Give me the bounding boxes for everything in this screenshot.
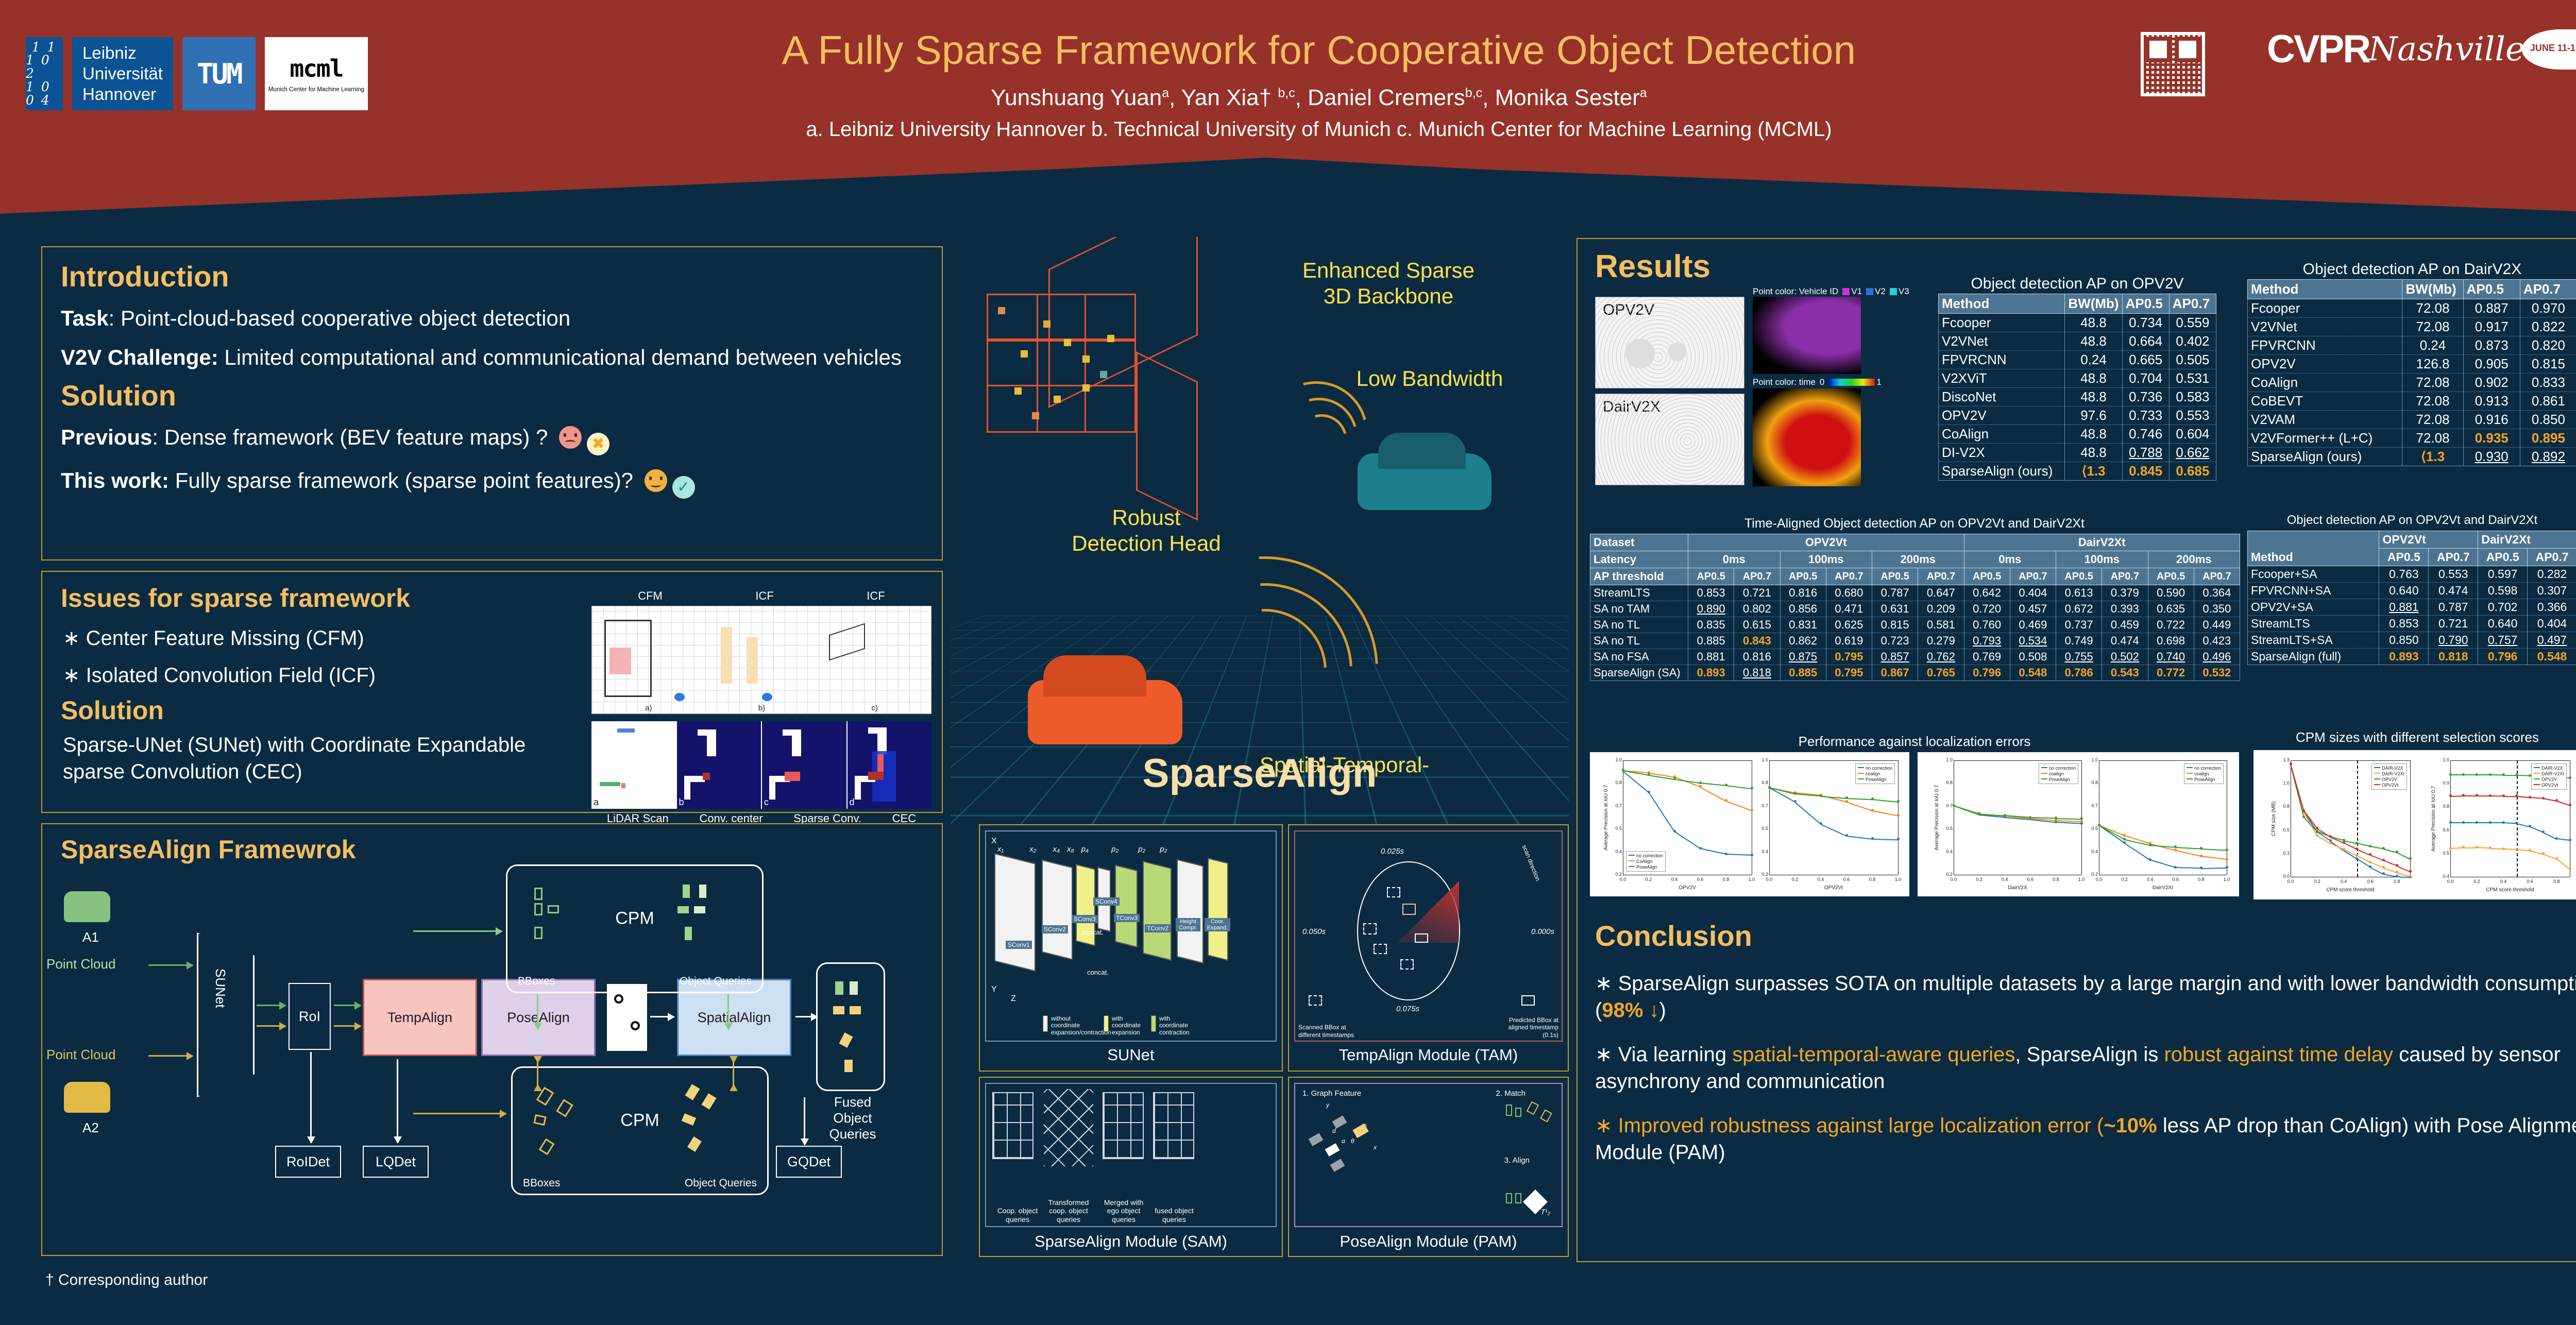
arrow-roi-to-cpm-top [413,930,502,932]
legend-label: PoseAlign [1636,864,1657,870]
cell-value: 0.793 [1964,633,2010,649]
x-tick-label: 0.2 [2312,879,2323,884]
pam-symbol-d: d [1332,1127,1336,1134]
axis-left [1769,760,1770,875]
th-apthr-1: AP0.7 [1734,568,1780,585]
x-tick-label: 0.6 [2525,879,2535,884]
cell-value: 0.457 [2010,601,2056,617]
chart-legend: DAIR-V2XDAIR-V2XtOPV2VOPV2Vt [2531,763,2567,790]
legend-label: no correction [1866,766,1892,771]
y-tick-label: 0.8 [2437,804,2449,809]
x-tick-label: 0.4 [2145,877,2155,882]
cell-value: 0.740 [2148,649,2194,665]
sunet-axis-y: Y [991,985,997,994]
chart-loc-errors-right: 0.20.40.50.70.81.00.00.20.40.60.81.0Dair… [1918,752,2239,896]
x-tick-label: 0.6 [2025,877,2036,882]
sunet-stage-x2: x₂ [1029,845,1036,854]
axis-top [1769,760,1898,761]
cell-value: 0.818 [2429,649,2478,665]
chart-loc-errors-title: Performance against localization errors [1590,734,2239,750]
cell-method: V2VNet [1939,332,2065,351]
axis-left [1954,760,1954,875]
fig-caption-icf-2: ICF [867,589,885,603]
cell-bw: 72.08 [2402,429,2463,448]
x-tick-label: 1.0 [2076,877,2087,882]
y-tick-label: 0.6 [2437,827,2449,833]
th-apthr-9: AP0.7 [2102,568,2148,585]
data-line [2490,848,2503,850]
table-opv2v-header-row: Method BW(Mb) AP0.5 AP0.7 [1939,294,2216,314]
block-lqdet[interactable]: LQDet [363,1146,429,1178]
sunet-stage-p2a: p₂ [1111,845,1118,854]
fig-sublabel-bottom-d: d [850,797,855,808]
data-line [1872,839,1898,840]
cell-value: 0.597 [2478,566,2528,583]
table-opv2v-col-ap07: AP0.7 [2169,294,2216,314]
thiswork-label: This work: [61,468,169,492]
cell-ap5: 0.917 [2463,318,2520,336]
th-group-dairv2xt: DairV2Xt [2478,531,2576,549]
legend-swatch [2534,773,2540,774]
cell-ap7: 0.402 [2169,332,2216,351]
data-point [1897,800,1900,803]
cell-method: StreamLTS [1590,585,1688,601]
conclusion-point-3: ∗ Improved robustness against large loca… [1595,1112,2576,1166]
conclusion-text-fragment: robust against time delay [2164,1043,2393,1066]
cell-value: 0.795 [1826,649,1872,665]
sunet-op-sconv1: SConv1 [1006,941,1032,949]
data-line [2370,867,2384,875]
cell-value: 0.862 [1780,633,1826,649]
cell-method: SparseAlign (full) [2248,649,2379,665]
arrow-a1-to-sunet [148,964,193,966]
y-tick-label: 0.3 [2277,851,2290,856]
table-opv2vt-header-groups: Method OPV2Vt DairV2Xt [2248,531,2576,549]
cell-bw: 48.8 [2065,425,2122,444]
pam-module-panel: 1. Graph Feature 2. Match 3. Align y x d… [1288,1077,1569,1257]
conclusion-text-fragment: ∗ Improved robustness against large loca… [1595,1114,2104,1137]
pam-step-1: 1. Graph Feature [1302,1089,1361,1098]
sam-grid-fused [1153,1092,1194,1159]
legend-swatch [2187,767,2193,768]
sunet-stage-x4: x₄ [1053,845,1060,854]
tam-legend-scanned: Scanned BBox at different timestamps [1298,1024,1360,1039]
cell-ap7: 0.553 [2169,406,2216,425]
fig-cell-sparse-conv: c [762,721,848,809]
data-line [2490,774,2503,775]
x-tick-label: 0.0 [2445,879,2455,884]
th-apthr-11: AP0.7 [2194,568,2240,585]
cell-bw: ⟨1.3 [2402,448,2463,466]
legend-swatch [1858,778,1864,779]
cell-ap7: 0.820 [2520,336,2576,355]
sunet-backbone-shape [197,932,255,1097]
cell-value: 0.890 [1688,601,1734,617]
th-apthr-5: AP0.7 [1918,568,1964,585]
table-row: FPVRCNN+SA0.6400.4740.5980.307 [2248,583,2576,599]
pam-symbol-theta: θ [1351,1137,1354,1145]
block-tempalign[interactable]: TempAlign [363,979,477,1056]
axis-top [2450,760,2570,761]
pose-transform-icon [607,984,647,1051]
cell-method: SparseAlign (SA) [1590,665,1688,681]
cell-value: 0.737 [2056,617,2102,633]
task-text: : Point-cloud-based cooperative object d… [109,306,571,330]
chart-cpm-box: 0.00.30.50.81.01.30.00.20.40.60.8CPM sco… [2253,750,2576,899]
cell-value: 0.749 [2056,633,2102,649]
introduction-solution-title: Solution [61,379,942,412]
axis-left [1623,760,1623,875]
cell-value: 0.893 [1688,665,1734,681]
x-tick-label: 0.8 [2050,877,2061,882]
data-point [2569,804,2571,806]
x-tick-label: 0.8 [2551,879,2562,884]
cell-method: Fcooper [1939,314,2065,332]
cell-bw: 48.8 [2065,314,2122,332]
vis-legend-time-text: Point color: time [1753,377,1816,387]
cell-value: 0.615 [1734,617,1780,633]
block-roi[interactable]: RoI [289,983,331,1050]
table-row: DiscoNet48.80.7360.583 [1939,388,2216,406]
cell-value: 0.763 [2379,566,2429,583]
data-line [2477,822,2490,823]
data-line [2290,765,2304,811]
previous-text: : Dense framework (BEV feature maps) ? [152,425,548,449]
block-gqdet[interactable]: GQDet [776,1146,842,1178]
sunet-legend-1: without coordinate expansion/contraction [1051,1015,1100,1037]
cell-value: 0.581 [1918,617,1964,633]
cell-value: 0.755 [2056,649,2102,665]
x-axis-label: DairV2Xt [2099,885,2227,891]
cell-value: 0.721 [2429,616,2478,632]
data-line [1726,785,1752,789]
data-line [2056,818,2081,820]
data-line [2383,868,2397,873]
data-line [2370,855,2384,861]
th-lat-0ms-a: 0ms [1688,551,1781,568]
cell-value: 0.885 [1688,633,1734,649]
table-row: V2XViT48.80.7040.531 [1939,369,2216,388]
pam-symbol-transform: T¹₂ [1540,1208,1550,1216]
pam-axis-x: x [1374,1144,1377,1151]
cell-value: 0.722 [2148,617,2194,633]
chart-legend: no correctioncoalignPoseAlign [2184,763,2224,784]
data-line [2383,848,2397,853]
x-axis-label: OPV2Vt [1769,885,1898,891]
data-point [1897,838,1900,840]
x-tick-label: 0.6 [1695,877,1705,882]
table-row: Fcooper72.080.8870.970 [2248,299,2576,318]
threshold-line [2517,760,2518,877]
data-line [2357,843,2370,847]
cell-bw: 126.8 [2402,355,2463,373]
tam-module-panel: 0.025s 0.050s 0.000s 0.075s scan directi… [1288,824,1569,1072]
table-dairv2x-header-row: Method BW(Mb) AP0.5 AP0.7 [2248,280,2576,299]
th-lat-100ms-b: 100ms [2056,551,2148,568]
legend-label: CoAlign [1636,859,1653,864]
cell-value: 0.875 [1780,649,1826,665]
cell-method: StreamLTS+SA [2248,632,2379,649]
vis-legend-time-min: 0 [1820,377,1824,387]
vis-pointcloud-time [1753,388,1861,486]
cell-bw: 72.08 [2402,373,2463,392]
label-robust-detection-head: Robust Detection Head [1043,505,1249,557]
sunet-op-coord-expand: Coor. Expand. [1205,918,1230,931]
tam-legend-predicted: Predicted BBox at aligned timestamp (0.1… [1492,1016,1558,1039]
data-point [2080,820,2083,823]
data-line [2450,822,2464,823]
legend-swatch [1629,866,1635,867]
table-opv2v-col-method: Method [1939,294,2065,314]
cell-ap5: 0.664 [2122,332,2169,351]
y-tick-label: 0.0 [2277,874,2290,879]
x-tick-label: 1.0 [2222,877,2232,882]
legend-label: DAIR-V2Xt [2541,771,2564,776]
agent-a2-car-icon [64,1082,110,1113]
cell-method: V2VAM [2248,411,2402,429]
vis-legend-vehicle-id: Point color: Vehicle IDV1V2V3 [1753,286,1909,297]
fig-cell-cec: d [848,721,932,809]
vis-legend-v2: V2 [1875,286,1886,296]
y-tick-label: 0.4 [1609,849,1622,854]
legend-label: DAIR-V2X [2382,766,2403,771]
framework-panel: SparseAlign Framewrok A1 Point Cloud A2 … [41,823,943,1256]
pam-symbol-alpha: α [1342,1137,1345,1145]
chart-loc-errors-left: 0.20.40.50.70.81.00.00.20.40.60.81.0OPV2… [1590,752,1909,896]
data-line [2490,822,2503,823]
data-line [2124,843,2150,860]
cell-bw: 72.08 [2402,299,2463,318]
sunet-block-5 [1115,865,1138,948]
sunet-stage-x8: x₈ [1067,845,1074,854]
legend-label: OPV2V [2541,777,2557,782]
cell-ap5: 0.736 [2122,388,2169,406]
data-point [2409,870,2412,873]
legend-label: PoseAlign [2049,777,2070,782]
table-dairv2x-col-ap07: AP0.7 [2520,280,2576,299]
sam-module-panel: Coop. object queries Transformed coop. o… [979,1077,1283,1257]
data-line [2477,847,2490,849]
guitar-icon: JUNE 11-15, 2025 [2522,29,2576,70]
sunet-op-sconv2: SConv2 [1042,925,1068,933]
y-tick-label: 0.8 [1609,780,1622,785]
introduction-panel: Introduction Task: Point-cloud-based coo… [41,246,943,560]
y-tick-label: 0.8 [2277,804,2290,809]
cell-value: 0.850 [2379,632,2429,649]
y-tick-label: 1.0 [1940,757,1953,762]
data-line [2503,775,2517,776]
y-tick-label: 0.7 [2086,803,2098,808]
legend-label: OPV2V [2382,777,2397,782]
data-line [1872,799,1898,803]
agent-a2-label: A2 [82,1120,99,1136]
th-dataset: Dataset [1590,534,1688,551]
data-line [2450,795,2464,797]
data-line [2201,848,2227,851]
cell-value: 0.474 [2429,583,2478,599]
tam-module-figure: 0.025s 0.050s 0.000s 0.075s scan directi… [1294,830,1563,1042]
axis-top [2291,760,2410,761]
table-row: StreamLTS0.8530.7210.8160.6800.7870.6470… [1590,585,2240,601]
arrow-to-fused-queries [795,1016,817,1017]
table-opv2v-col-ap05: AP0.5 [2122,294,2169,314]
cell-method: DI-V2X [1939,444,2065,462]
sunet-block-1 [994,853,1036,972]
table-opv2vt-dairv2xt-title: Object detection AP on OPV2Vt and DairV2… [2247,513,2576,528]
fig-sublabel-a: a) [645,704,652,712]
chart-legend: DAIR-V2XDAIR-V2XtOPV2VOPV2Vt [2371,763,2407,790]
data-line [2556,801,2570,806]
tam-bbox-2 [1363,923,1377,935]
sunet-stage-p4: p₄ [1081,845,1089,854]
cell-method: SparseAlign (ours) [2248,448,2402,466]
axis-bottom [1623,875,1752,875]
cell-ap5: 0.887 [2463,299,2520,318]
data-line [2099,825,2125,840]
conclusion-text-fragment: ∗ SparseAlign surpasses SOTA on multiple… [1595,972,2576,1022]
tam-bbox-pred-2 [1415,933,1428,943]
cell-method: Fcooper+SA [2248,566,2379,583]
table-dairv2x: Method BW(Mb) AP0.5 AP0.7 Fcooper72.080.… [2247,279,2576,466]
vis-pointcloud-vehicleid [1753,297,1861,374]
cell-bw: 0.24 [2065,351,2122,369]
data-line [2556,838,2570,841]
data-line [2464,795,2477,796]
tam-bbox-pred-1 [1402,904,1416,915]
axis-bottom [2291,877,2410,877]
y-tick-label: 0.5 [2437,851,2449,856]
x-tick-label: 0.6 [2365,879,2376,884]
x-axis-label: DairV2X [1954,885,2081,891]
cpm-label-bottom: CPM [620,1111,659,1131]
issues-fig-bottom-image: a b c d [591,721,931,809]
task-label: Task [61,306,109,330]
cell-bw: 72.08 [2402,392,2463,411]
cell-ap5: 0.733 [2122,406,2169,425]
data-line [2397,865,2411,872]
th-apthr-7: AP0.7 [2010,568,2056,585]
data-point [2409,857,2412,860]
cell-value: 0.548 [2010,665,2056,681]
center-hero-graphic: Enhanced Sparse 3D Backbone Low Bandwidt… [951,237,1569,824]
th-apthr-4: AP0.5 [1872,568,1918,585]
data-point [2226,848,2228,851]
x-tick-label: 0.2 [1790,877,1800,882]
tam-module-caption: TempAlign Module (TAM) [1289,1046,1568,1064]
axis-right [1898,760,1899,875]
conclusion-point-1: ∗ SparseAlign surpasses SOTA on multiple… [1595,970,2576,1024]
qr-code-icon[interactable] [2141,32,2205,96]
sunet-op-tconv3: TConv3 [1114,914,1140,922]
cell-method: FPVRCNN [2248,336,2402,355]
arrow-roi-to-tempalign-a2 [334,1025,361,1027]
sad-face-icon [559,426,582,449]
th-method-2: Method [2248,531,2379,566]
introduction-title: Introduction [61,260,942,293]
data-line [1846,802,1873,811]
y-tick-label: 0.9 [2437,780,2449,786]
th-apthr-10: AP0.5 [2148,568,2194,585]
sunet-block-2 [1042,860,1073,960]
sunet-stage-x1: x₁ [997,845,1004,854]
footer-note: † Corresponding author [45,1271,208,1289]
data-line [2370,846,2383,850]
introduction-challenge: V2V Challenge: Limited computational and… [61,344,926,371]
tam-bbox-4 [1400,959,1414,970]
cell-value: 0.816 [1734,649,1780,665]
tam-bbox-3 [1374,944,1387,954]
chart-legend: no correctioncoalignPoseAlign [2039,763,2078,784]
arrow-to-spatialalign [650,1016,674,1017]
arrow-sunet-to-roi-a1 [257,1005,285,1006]
cell-value: 0.449 [2194,617,2240,633]
data-line [2503,848,2517,850]
cell-value: 0.816 [1780,585,1826,601]
affiliation-list: a. Leibniz University Hannover b. Techni… [0,118,2576,141]
cell-value: 0.672 [2056,601,2102,617]
introduction-task: Task: Point-cloud-based cooperative obje… [61,304,926,332]
table-opv2vt-dairv2xt: Method OPV2Vt DairV2Xt AP0.5AP0.7AP0.5AP… [2247,531,2576,665]
cell-value: 0.497 [2528,632,2576,649]
issues-fig-top-sublabels: a) b) c) [592,704,931,712]
table-row: OPV2V97.60.7330.553 [1939,406,2216,425]
sunet-module-figure: X Y Z x₁ x₂ x₄ x₈ p₄ p₂ p₂ p₂ SConv1 SCo… [985,830,1277,1042]
table-timealigned-header-latency: Latency 0ms 100ms 200ms 0ms 100ms 200ms [1590,551,2240,568]
data-point [2569,839,2571,841]
legend-swatch [1858,773,1864,774]
y-tick-label: 1.0 [2086,757,2098,762]
x-tick-label: 0.4 [1999,877,2010,882]
cell-value: 0.856 [1780,601,1826,617]
legend-swatch [1629,860,1635,861]
arrow-roi-to-roidet [310,1052,312,1143]
th-dairv2xt: DairV2Xt [1964,534,2240,551]
cell-value: 0.640 [2379,583,2429,599]
sam-grid-transformed [1044,1089,1093,1166]
legend-swatch [2374,773,2380,774]
sunet-op-height-compression: Height Compr. [1176,918,1200,931]
data-line [1700,783,1726,786]
data-line [2464,774,2477,775]
cell-value: 0.613 [2056,585,2102,601]
legend-label: no correction [2049,766,2076,771]
fig-caption-icf-1: ICF [755,589,773,603]
table-row: SA no FSA0.8810.8160.8750.7950.8570.7620… [1590,649,2240,665]
block-roidet[interactable]: RoIDet [275,1146,341,1178]
legend-swatch [2534,784,2540,785]
introduction-thiswork: This work: Fully sparse framework (spars… [61,467,926,499]
cell-value: 0.279 [1918,633,1964,649]
cell-value: 0.534 [2010,633,2056,649]
fused-queries-card [816,962,885,1091]
fig-cell-conv-center: b [677,721,762,809]
check-mark-icon: ✓ [672,476,695,499]
legend-swatch [2187,773,2193,774]
table-opv2v: Method BW(Mb) AP0.5 AP0.7 Fcooper48.80.7… [1938,294,2216,481]
th-sub-1: AP0.7 [2429,549,2478,566]
th-lat-0ms-b: 0ms [1964,551,2056,568]
label-low-bandwidth: Low Bandwidth [1321,366,1538,392]
table-row: DI-V2X48.80.7880.662 [1939,444,2216,462]
x-tick-label: 0.8 [1867,877,1877,882]
agent-a1-car-icon [64,891,110,922]
x-tick-label: 0.6 [1841,877,1852,882]
data-line [1700,787,1726,802]
legend-swatch [2374,784,2380,785]
y-tick-label: 0.2 [1940,872,1953,877]
x-tick-label: 0.0 [1948,877,1959,882]
cell-value: 0.307 [2528,583,2576,599]
